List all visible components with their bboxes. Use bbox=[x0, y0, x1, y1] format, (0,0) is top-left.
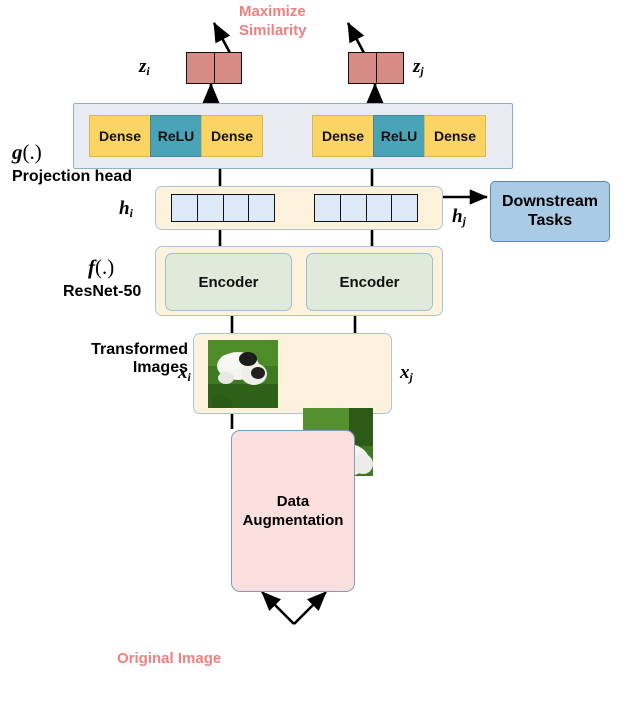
h-i-cell bbox=[171, 194, 198, 222]
transformed-image-xi bbox=[208, 340, 278, 408]
h-j-label: hj bbox=[452, 206, 466, 228]
h-j-cell bbox=[340, 194, 367, 222]
h-j-cell bbox=[314, 194, 341, 222]
encoder-left-box: Encoder bbox=[165, 253, 292, 311]
data-augmentation-box[interactable]: Data Augmentation bbox=[231, 430, 355, 592]
z-i-vector bbox=[186, 52, 242, 84]
h-i-vector bbox=[171, 194, 275, 222]
encoder-right-box: Encoder bbox=[306, 253, 433, 311]
g-function-label: g(.) bbox=[12, 140, 42, 165]
h-j-vector bbox=[314, 194, 418, 222]
z-i-cell bbox=[186, 52, 215, 84]
projection-head-name-label: Projection head bbox=[12, 168, 132, 186]
maximize-similarity-label: Maximize Similarity bbox=[239, 3, 369, 41]
h-i-cell bbox=[197, 194, 224, 222]
projection-right-relu: ReLU bbox=[373, 115, 425, 157]
x-j-label: xj bbox=[400, 362, 413, 384]
downstream-tasks-box[interactable]: Downstream Tasks bbox=[490, 181, 610, 242]
h-j-cell bbox=[366, 194, 393, 222]
z-j-cell bbox=[348, 52, 377, 84]
simclr-architecture-diagram: Maximize Similarity zi zj Dense ReLU Den… bbox=[0, 0, 622, 701]
z-i-cell bbox=[214, 52, 243, 84]
projection-left-relu: ReLU bbox=[150, 115, 202, 157]
h-i-cell bbox=[248, 194, 275, 222]
z-i-label: zi bbox=[139, 56, 150, 78]
encoder-name-label: ResNet-50 bbox=[63, 283, 141, 301]
h-i-label: hi bbox=[119, 198, 133, 220]
projection-right-dense-1: Dense bbox=[312, 115, 374, 157]
projection-left-dense-2: Dense bbox=[201, 115, 263, 157]
z-j-label: zj bbox=[413, 56, 424, 78]
z-j-vector bbox=[348, 52, 404, 84]
z-j-cell bbox=[376, 52, 405, 84]
h-j-cell bbox=[391, 194, 418, 222]
f-function-label: f(.) bbox=[88, 255, 114, 280]
projection-right-dense-2: Dense bbox=[424, 115, 486, 157]
projection-left-dense-1: Dense bbox=[89, 115, 151, 157]
transformed-images-label: Transformed Images bbox=[58, 341, 188, 378]
original-image-label: Original Image bbox=[117, 650, 221, 669]
h-i-cell bbox=[223, 194, 250, 222]
